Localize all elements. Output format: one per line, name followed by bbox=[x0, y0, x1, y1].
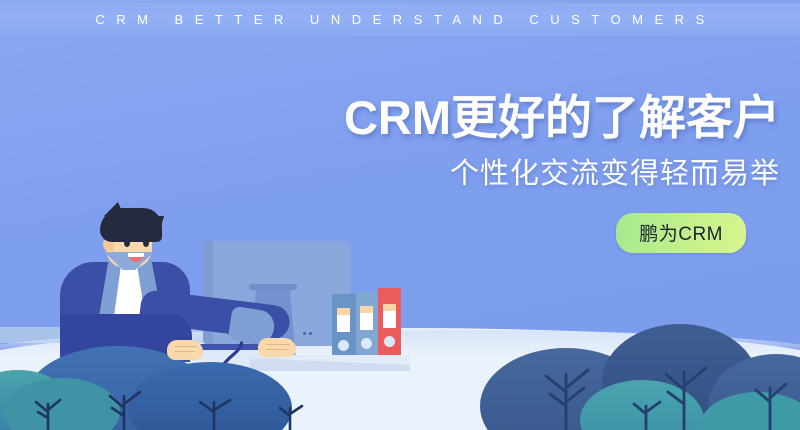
person-eyebrow-left bbox=[122, 234, 131, 236]
person-eyebrow-right bbox=[141, 234, 150, 236]
binder-blue-light bbox=[356, 292, 378, 360]
person-eye-right bbox=[143, 239, 149, 247]
binder-tab bbox=[360, 306, 373, 313]
binder-ring bbox=[338, 340, 349, 351]
binder-ring bbox=[384, 336, 395, 347]
binder-red bbox=[378, 288, 401, 360]
binder-ring bbox=[361, 338, 372, 349]
brand-cta-button[interactable]: 鹏为CRM bbox=[616, 213, 746, 253]
binder-tab bbox=[383, 304, 396, 311]
person-hair-tuft bbox=[104, 202, 124, 216]
person-hand-right bbox=[258, 338, 296, 357]
person-teeth bbox=[128, 253, 144, 257]
person-eye-left bbox=[124, 239, 130, 247]
page-title: CRM更好的了解客户 bbox=[220, 92, 780, 145]
binder-blue-dark bbox=[332, 294, 356, 360]
cta-container: 鹏为CRM bbox=[220, 213, 780, 253]
binder-tab bbox=[337, 308, 350, 315]
foliage-left bbox=[0, 320, 330, 430]
foliage-right bbox=[470, 310, 800, 430]
person-hand-left bbox=[167, 340, 203, 360]
crm-marketing-banner: CRM BETTER UNDERSTAND CUSTOMERS CRM更好的了解… bbox=[0, 0, 800, 430]
eyebrow-text: CRM BETTER UNDERSTAND CUSTOMERS bbox=[0, 5, 800, 35]
headline-block: CRM更好的了解客户 个性化交流变得轻而易举 鹏为CRM bbox=[220, 92, 780, 253]
monitor-stand-bracket bbox=[249, 284, 297, 290]
page-subtitle: 个性化交流变得轻而易举 bbox=[220, 157, 780, 192]
